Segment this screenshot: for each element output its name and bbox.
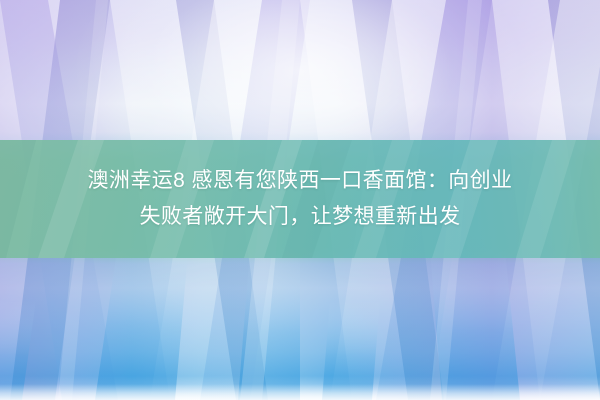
headline-line-2: 失败者敞开大门，让梦想重新出发 bbox=[140, 200, 461, 234]
headline-text: 澳洲幸运8 感恩有您陕西一口香面馆：向创业 失败者敞开大门，让梦想重新出发 bbox=[0, 140, 600, 258]
bottom-fade-overlay bbox=[0, 384, 600, 400]
promo-banner: 澳洲幸运8 感恩有您陕西一口香面馆：向创业 失败者敞开大门，让梦想重新出发 bbox=[0, 0, 600, 400]
headline-line-1: 澳洲幸运8 感恩有您陕西一口香面馆：向创业 bbox=[88, 164, 513, 198]
